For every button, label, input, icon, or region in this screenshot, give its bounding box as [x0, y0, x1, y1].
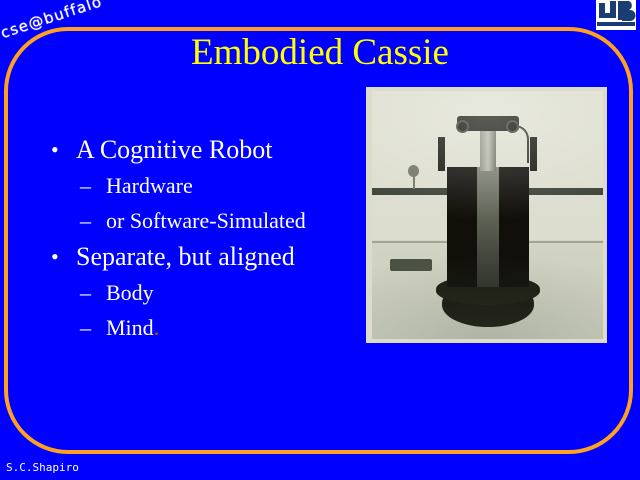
sub-bullet-label: Body — [106, 280, 154, 305]
sub-bullet-marker: – — [80, 168, 91, 203]
sub-bullet-hardware: –Hardware — [44, 168, 364, 203]
bullet-item-cognitive-robot: •A Cognitive Robot — [44, 131, 364, 168]
sub-bullet-body: –Body — [44, 275, 364, 310]
ub-logo — [596, 0, 636, 30]
wall-fixture-stem — [413, 176, 415, 189]
robot-front-panel — [477, 167, 499, 287]
sub-bullet-label: Mind — [106, 315, 154, 340]
robot-post-left — [438, 137, 445, 171]
sub-bullet-mind: –Mind. — [44, 310, 364, 345]
bullet-label: Separate, but aligned — [76, 242, 295, 271]
bullet-item-separate-but-aligned: •Separate, but aligned — [44, 238, 364, 275]
sub-bullet-marker: – — [80, 310, 91, 345]
bullet-list: •A Cognitive Robot –Hardware –or Softwar… — [44, 131, 364, 345]
bullet-marker: • — [51, 131, 59, 168]
floor-object — [390, 259, 432, 271]
page-title: Embodied Cassie — [0, 31, 640, 75]
bullet-label: A Cognitive Robot — [76, 135, 272, 164]
robot-photo — [366, 87, 607, 343]
robot-photo-scene — [372, 91, 603, 339]
sub-bullet-marker: – — [80, 275, 91, 310]
sub-bullet-marker: – — [80, 203, 91, 238]
sub-bullet-label: Hardware — [106, 173, 193, 198]
robot-post-right — [530, 137, 537, 171]
sub-bullet-software-simulated: –or Software-Simulated — [44, 203, 364, 238]
bullet-marker: • — [51, 238, 59, 275]
slide: cse@buffalo Embodied Cassie •A Cognitive… — [0, 0, 640, 480]
robot-camera-lens-right — [506, 120, 519, 133]
sub-bullet-accent-punctuation: . — [154, 315, 160, 340]
robot-mast — [480, 127, 496, 171]
sub-bullet-label: or Software-Simulated — [106, 208, 306, 233]
robot-camera-lens-left — [456, 120, 469, 133]
footer-author: S.C.Shapiro — [6, 461, 79, 474]
